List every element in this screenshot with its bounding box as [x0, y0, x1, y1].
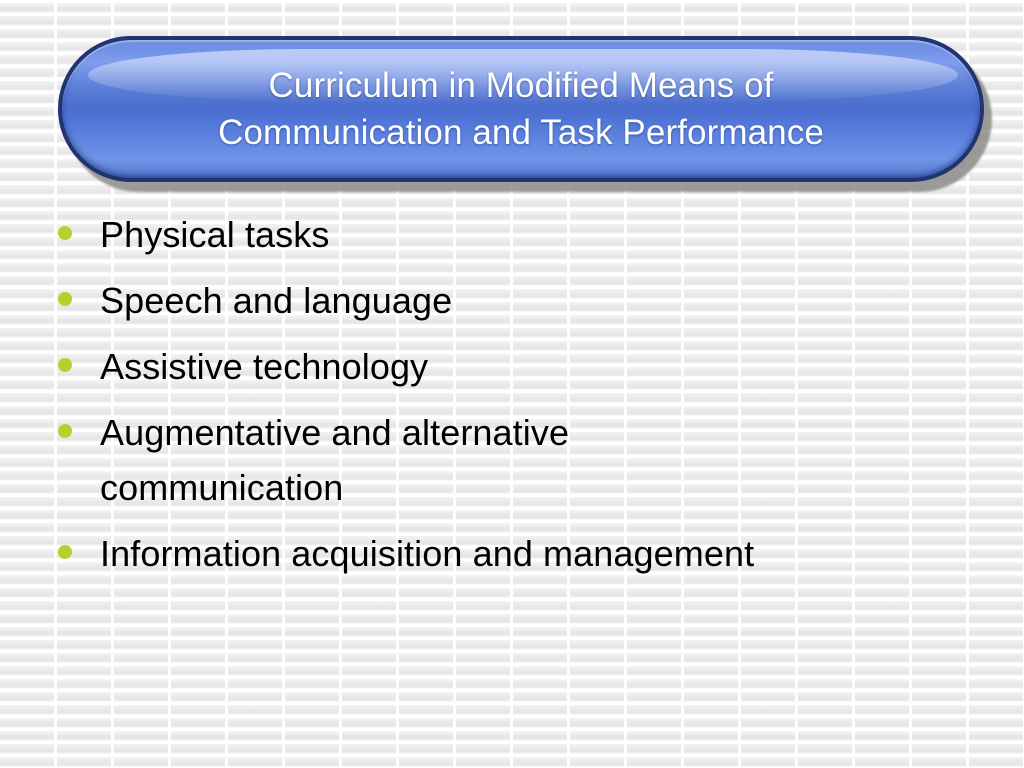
bullet-marker-icon: [58, 424, 72, 438]
list-item: Physical tasks: [58, 207, 978, 262]
bullet-marker-icon: [58, 292, 72, 306]
list-item: Augmentative and alternative communicati…: [58, 405, 978, 515]
slide-canvas: Curriculum in Modified Means of Communic…: [0, 0, 1024, 768]
title-pill: Curriculum in Modified Means of Communic…: [58, 36, 984, 182]
bullet-list: Physical tasks Speech and language Assis…: [58, 207, 978, 592]
bullet-marker-icon: [58, 545, 72, 559]
list-item-text: Speech and language: [100, 273, 452, 328]
slide-title: Curriculum in Modified Means of Communic…: [62, 62, 980, 156]
list-item: Assistive technology: [58, 339, 978, 394]
list-item-text: Information acquisition and management: [100, 526, 754, 581]
slide-title-line-2: Communication and Task Performance: [112, 109, 930, 156]
list-item-text: Augmentative and alternative communicati…: [100, 405, 720, 515]
list-item: Speech and language: [58, 273, 978, 328]
list-item-text: Assistive technology: [100, 339, 428, 394]
slide-title-line-1: Curriculum in Modified Means of: [112, 62, 930, 109]
bullet-marker-icon: [58, 226, 72, 240]
list-item-text: Physical tasks: [100, 207, 329, 262]
bullet-marker-icon: [58, 358, 72, 372]
list-item: Information acquisition and management: [58, 526, 978, 581]
